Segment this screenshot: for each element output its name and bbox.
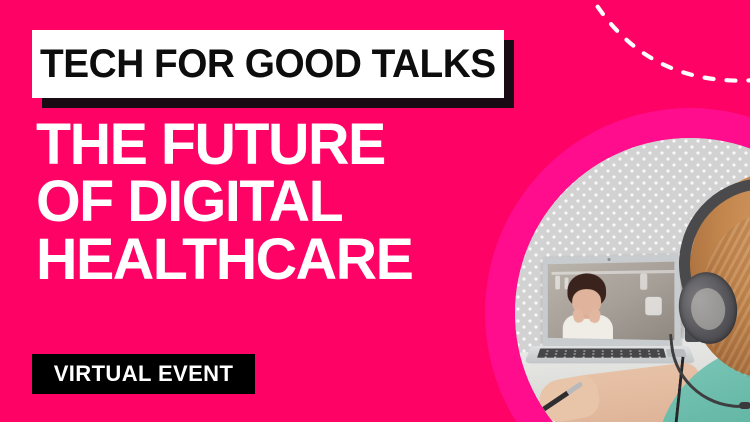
page-title: THE FUTURE OF DIGITAL HEALTHCARE: [36, 116, 416, 288]
healthcare-worker: [665, 164, 750, 422]
laptop-lid: [542, 254, 680, 349]
shelf-object: [555, 276, 560, 290]
headset-mic-tip: [739, 402, 750, 409]
telehealth-photo: [515, 138, 750, 422]
title-line-1: THE FUTURE: [36, 116, 412, 173]
dashed-arc-icon: [550, 0, 750, 120]
badge-label: VIRTUAL EVENT: [54, 363, 234, 385]
laptop-keyboard: [537, 348, 666, 357]
shelf-object: [645, 297, 662, 316]
event-poster: TECH FOR GOOD TALKS THE FUTURE OF DIGITA…: [0, 0, 750, 422]
laptop-screen: [548, 262, 675, 341]
banner-box: TECH FOR GOOD TALKS: [32, 30, 504, 98]
event-type-badge: VIRTUAL EVENT: [32, 354, 255, 394]
shelf-object: [640, 273, 647, 289]
banner-label: TECH FOR GOOD TALKS: [40, 44, 496, 84]
photo-circle-composition: [485, 108, 750, 422]
caller-hair: [567, 273, 606, 307]
webcam-dot: [608, 258, 611, 261]
dashed-arc-decoration: [550, 0, 750, 120]
title-line-3: HEALTHCARE: [36, 231, 412, 288]
title-line-2: OF DIGITAL: [36, 173, 412, 230]
series-banner: TECH FOR GOOD TALKS: [32, 30, 504, 98]
